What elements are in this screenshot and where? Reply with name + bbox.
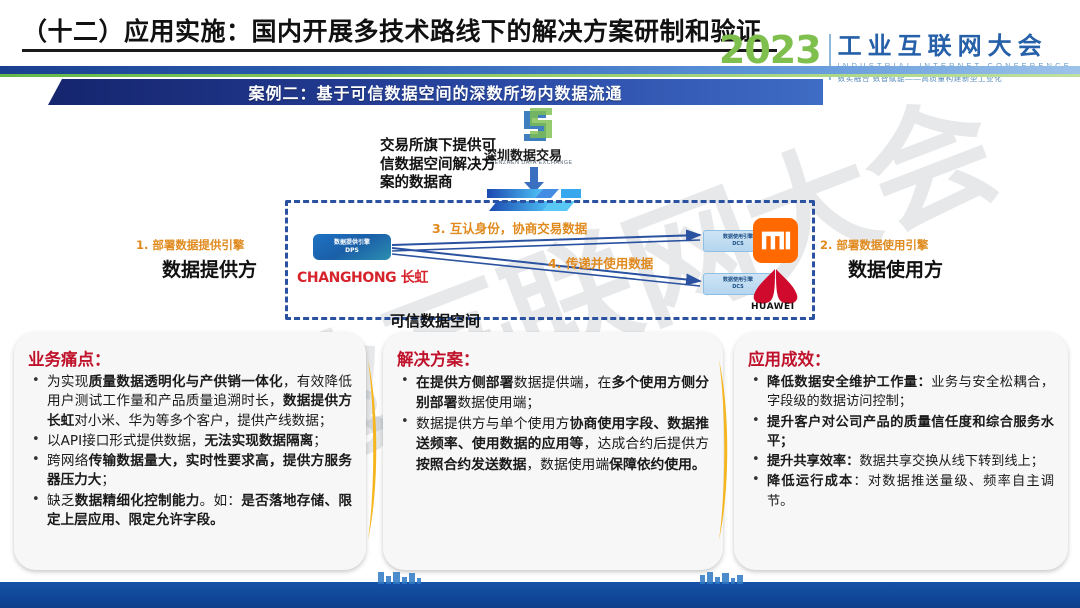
list-item: 提升客户对公司产品的质量信任度和综合服务水平； bbox=[748, 413, 1054, 452]
list-item: 降低运行成本：对数据推送量级、频率自主调节。 bbox=[748, 472, 1054, 511]
dcs2-line2: DCS bbox=[732, 284, 744, 291]
dps-line1: 数据提供引擎 bbox=[334, 239, 370, 247]
subtitle-banner-text: 案例二：基于可信数据空间的深数所场内数据流通 bbox=[48, 79, 823, 105]
header-divider-green bbox=[0, 74, 1080, 77]
page-title: （十二）应用实施：国内开展多技术路线下的解决方案研制和验证 bbox=[22, 12, 762, 48]
huawei-wordmark: HUAWEI bbox=[751, 302, 795, 312]
flow-arrow-icon-1 bbox=[365, 360, 383, 540]
step-3-label: 3. 互认身份，协商交易数据 bbox=[432, 218, 587, 237]
dps-line2: DPS bbox=[345, 247, 359, 255]
dps-engine-box: 数据提供引擎 DPS bbox=[313, 234, 391, 260]
panel-results: 应用成效： 降低数据安全维护工作量：业务与安全松耦合，字段级的数据访问控制；提升… bbox=[734, 332, 1068, 570]
list-item: 跨网络传输数据量大，实时性要求高，提供方服务器压力大； bbox=[28, 452, 352, 491]
dcs1-line2: DCS bbox=[732, 241, 744, 248]
panel-results-title: 应用成效： bbox=[748, 346, 1054, 370]
subtitle-banner: 案例二：基于可信数据空间的深数所场内数据流通 bbox=[48, 79, 823, 105]
panel-solution-list: 在提供方侧部署数据提供端，在多个使用方侧分别部署数据使用端；数据提供方与单个使用… bbox=[397, 373, 709, 475]
list-item: 提升共享效率：数据共享交换从线下转到线上； bbox=[748, 452, 1054, 471]
content-panels: 业务痛点： 为实现质量数据透明化与产供销一体化，有效降低用户测试工作量和产品质量… bbox=[0, 332, 1080, 572]
panel-solution-title: 解决方案： bbox=[397, 346, 709, 370]
panel-solution: 解决方案： 在提供方侧部署数据提供端，在多个使用方侧分别部署数据使用端；数据提供… bbox=[383, 332, 723, 570]
xiaomi-logo bbox=[753, 218, 798, 263]
data-consumer-party: 数据使用方 bbox=[848, 255, 943, 282]
panel-pain-points-list: 为实现质量数据透明化与产供销一体化，有效降低用户测试工作量和产品质量追溯时长，数… bbox=[28, 373, 352, 530]
subtitle-banner-wrap: 案例二：基于可信数据空间的深数所场内数据流通 bbox=[0, 79, 1080, 105]
flow-arrow-icon-2 bbox=[716, 360, 734, 540]
architecture-diagram: 深圳数据交易 SHENZHEN DATA EXCHANGE 交易所旗下提供可信数… bbox=[0, 105, 1080, 335]
list-item: 缺乏数据精细化控制能力。如：是否落地存储、限定上层应用、限定允许字段。 bbox=[28, 492, 352, 531]
step-2-label: 2. 部署数据使用引擎 bbox=[820, 237, 928, 253]
list-item: 降低数据安全维护工作量：业务与安全松耦合，字段级的数据访问控制； bbox=[748, 373, 1054, 412]
list-item: 为实现质量数据透明化与产供销一体化，有效降低用户测试工作量和产品质量追溯时长，数… bbox=[28, 373, 352, 431]
changhong-logo: CHANGHONG 长虹 bbox=[297, 267, 428, 287]
title-underline bbox=[22, 49, 777, 52]
panel-results-list: 降低数据安全维护工作量：业务与安全松耦合，字段级的数据访问控制；提升客户对公司产… bbox=[748, 373, 1054, 511]
step-4-label: 4. 传递并使用数据 bbox=[548, 253, 653, 272]
step-1-label: 1. 部署数据提供引擎 bbox=[136, 237, 244, 253]
panel-pain-points-title: 业务痛点： bbox=[28, 346, 352, 370]
dcs1-line1: 数据使用引擎 bbox=[723, 234, 753, 241]
slide-root: （十二）应用实施：国内开展多技术路线下的解决方案研制和验证 2023 中国·深圳… bbox=[0, 0, 1080, 608]
data-provider-party: 数据提供方 bbox=[162, 255, 257, 282]
list-item: 以API接口形式提供数据，无法实现数据隔离； bbox=[28, 432, 352, 451]
header-divider-blue bbox=[0, 66, 1080, 74]
footer-skyline-band bbox=[0, 572, 1080, 608]
list-item: 在提供方侧部署数据提供端，在多个使用方侧分别部署数据使用端； bbox=[397, 373, 709, 413]
logo-name-cn: 工业互联网大会 bbox=[838, 34, 1072, 58]
xiaomi-mi-glyph bbox=[761, 229, 791, 252]
panel-pain-points: 业务痛点： 为实现质量数据透明化与产供销一体化，有效降低用户测试工作量和产品质量… bbox=[14, 332, 366, 570]
list-item: 数据提供方与单个使用方协商使用字段、数据推送频率、使用数据的应用等，达成合约后提… bbox=[397, 414, 709, 474]
